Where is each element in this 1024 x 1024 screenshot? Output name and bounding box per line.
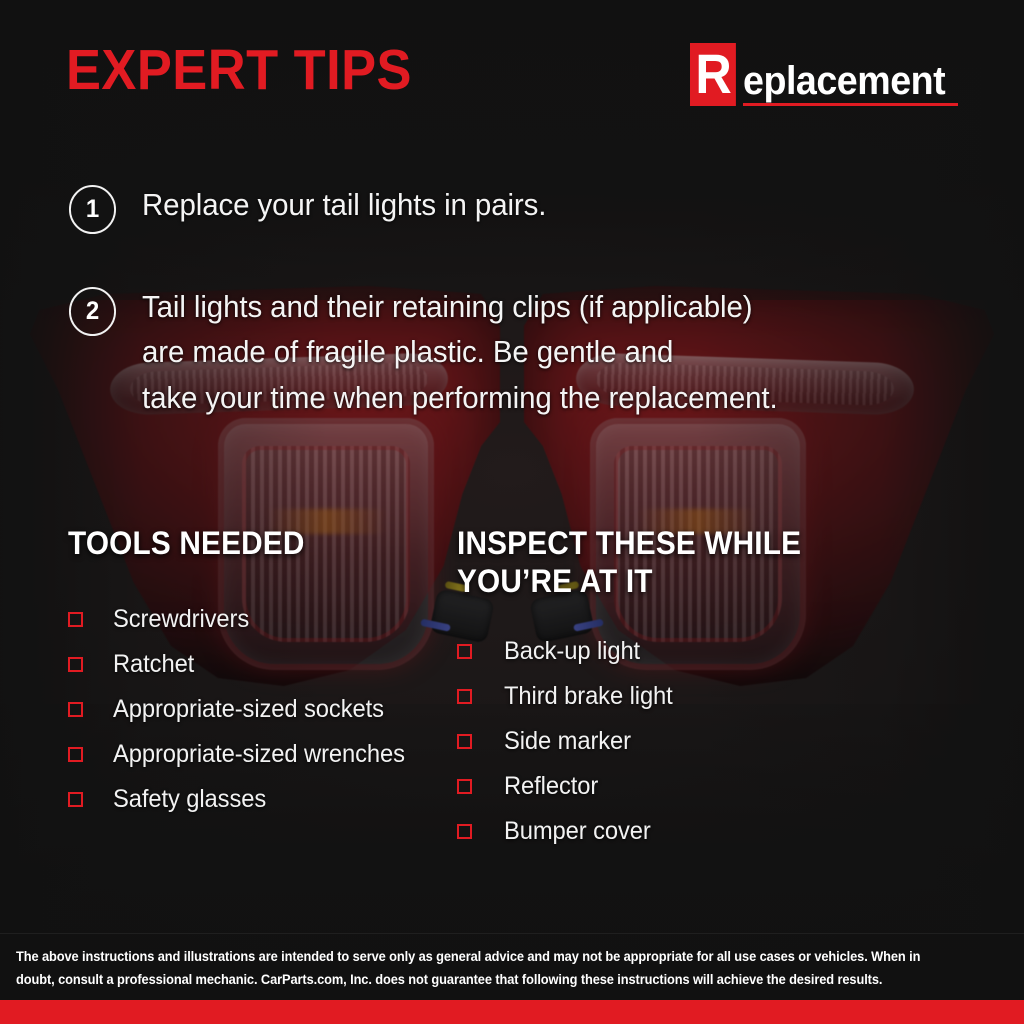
list-item: Side marker [457, 719, 857, 764]
list-item: Third brake light [457, 674, 857, 719]
list-item: Bumper cover [457, 809, 857, 854]
list-item: Safety glasses [68, 777, 458, 822]
tip-number-badge: 2 [69, 287, 116, 336]
expert-tips-infographic: EXPERT TIPS R eplacement 1 Replace your … [0, 0, 1024, 1024]
inspect-these-list: Back-up light Third brake light Side mar… [457, 629, 857, 854]
list-item-label: Appropriate-sized wrenches [113, 740, 405, 769]
inspect-these-heading: INSPECT THESE WHILE YOU’RE AT IT [457, 525, 829, 601]
checkbox-icon[interactable] [68, 747, 83, 762]
list-item: Screwdrivers [68, 597, 458, 642]
checkbox-icon[interactable] [457, 689, 472, 704]
logo-underline-rule [743, 103, 958, 106]
list-item-label: Screwdrivers [113, 605, 249, 634]
logo-wordmark-wrapper: eplacement [743, 61, 958, 106]
tip-item-1: 1 Replace your tail lights in pairs. [68, 182, 568, 234]
list-item-label: Bumper cover [504, 817, 651, 846]
content-layer: EXPERT TIPS R eplacement 1 Replace your … [0, 0, 1024, 1024]
tools-needed-column: TOOLS NEEDED Screwdrivers Ratchet Approp… [68, 525, 458, 822]
footer-divider [0, 933, 1024, 934]
list-item: Ratchet [68, 642, 458, 687]
tools-needed-list: Screwdrivers Ratchet Appropriate-sized s… [68, 597, 458, 822]
footer-disclaimer: The above instructions and illustrations… [16, 945, 958, 1000]
checkbox-icon[interactable] [68, 702, 83, 717]
list-item-label: Ratchet [113, 650, 194, 679]
list-item-label: Reflector [504, 772, 598, 801]
tip-text: Tail lights and their retaining clips (i… [142, 284, 778, 420]
checkbox-icon[interactable] [457, 824, 472, 839]
list-item-label: Side marker [504, 727, 631, 756]
checkbox-icon[interactable] [457, 734, 472, 749]
tip-text: Replace your tail lights in pairs. [142, 182, 546, 227]
checkbox-icon[interactable] [457, 644, 472, 659]
checkbox-icon[interactable] [68, 657, 83, 672]
header: EXPERT TIPS R eplacement [0, 0, 1024, 130]
inspect-these-column: INSPECT THESE WHILE YOU’RE AT IT Back-up… [457, 525, 857, 854]
list-item: Appropriate-sized wrenches [68, 732, 458, 777]
list-item-label: Safety glasses [113, 785, 266, 814]
logo-wordmark: eplacement [743, 61, 945, 101]
bottom-accent-bar [0, 1000, 1024, 1024]
list-item: Back-up light [457, 629, 857, 674]
list-item-label: Back-up light [504, 637, 640, 666]
list-item-label: Third brake light [504, 682, 673, 711]
checkbox-icon[interactable] [68, 792, 83, 807]
replacement-logo: R eplacement [690, 44, 958, 106]
tip-item-2: 2 Tail lights and their retaining clips … [68, 284, 811, 420]
tip-number-badge: 1 [69, 185, 116, 234]
footer: The above instructions and illustrations… [0, 945, 1024, 1000]
list-item-label: Appropriate-sized sockets [113, 695, 384, 724]
list-item: Appropriate-sized sockets [68, 687, 458, 732]
checkbox-icon[interactable] [68, 612, 83, 627]
page-title: EXPERT TIPS [66, 42, 412, 99]
list-item: Reflector [457, 764, 857, 809]
checkbox-icon[interactable] [457, 779, 472, 794]
logo-initial-badge: R [690, 43, 736, 106]
tools-needed-heading: TOOLS NEEDED [68, 525, 431, 563]
